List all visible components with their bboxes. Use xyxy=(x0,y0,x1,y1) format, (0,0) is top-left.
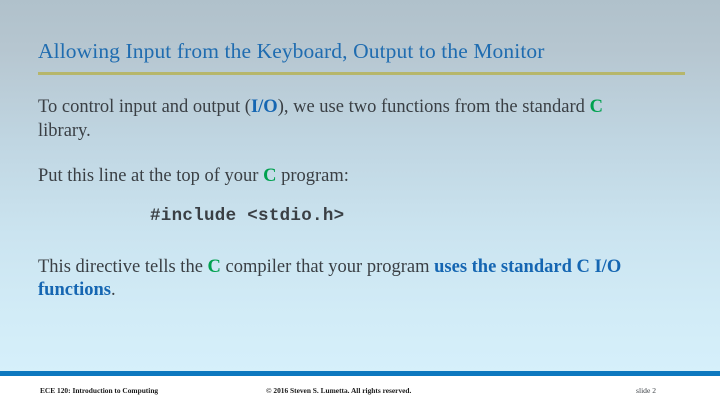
title-underline-rule xyxy=(38,72,685,75)
page-title: Allowing Input from the Keyboard, Output… xyxy=(38,38,686,64)
term-c-language-3: C xyxy=(208,257,221,277)
footer-copyright-label: © 2016 Steven S. Lumetta. All rights res… xyxy=(266,386,411,395)
term-c-language-1: C xyxy=(590,97,603,117)
paragraph-intro: To control input and output (I/O), we us… xyxy=(38,96,658,143)
slide-footer: ECE 120: Introduction to Computing © 201… xyxy=(0,376,720,405)
term-io: I/O xyxy=(251,97,278,117)
footer-slide-number: slide 2 xyxy=(636,386,656,395)
paragraph-directive-prompt: Put this line at the top of your C progr… xyxy=(38,165,658,189)
paragraph-intro-text-1: To control input and output ( xyxy=(38,97,251,117)
paragraph-explanation-text-3: . xyxy=(111,280,116,300)
paragraph-directive-text-1: Put this line at the top of your xyxy=(38,166,263,186)
paragraph-explanation: This directive tells the C compiler that… xyxy=(38,256,658,303)
footer-course-label: ECE 120: Introduction to Computing xyxy=(40,386,158,395)
code-snippet-include: #include <stdio.h> xyxy=(38,206,658,226)
paragraph-explanation-text-1: This directive tells the xyxy=(38,257,208,277)
paragraph-directive-text-2: program: xyxy=(276,166,348,186)
slide-body: To control input and output (I/O), we us… xyxy=(38,92,658,303)
paragraph-intro-text-3: library. xyxy=(38,121,91,141)
paragraph-explanation-text-2: compiler that your program xyxy=(221,257,434,277)
term-c-language-2: C xyxy=(263,166,276,186)
slide-canvas: Allowing Input from the Keyboard, Output… xyxy=(0,0,720,405)
paragraph-intro-text-2: ), we use two functions from the standar… xyxy=(278,97,590,117)
